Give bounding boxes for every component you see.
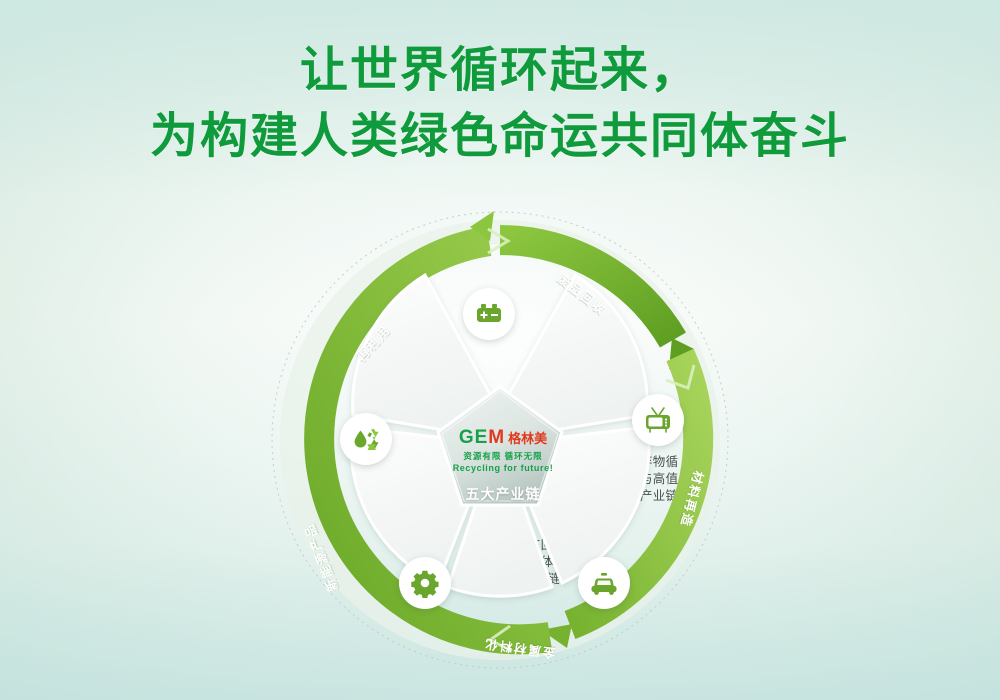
gem-letter-red: M <box>488 427 505 448</box>
water-recycle-icon[interactable] <box>340 413 392 465</box>
gear-icon[interactable] <box>399 557 451 609</box>
gem-slogan-cn: 资源有限 循环无限 <box>448 450 558 462</box>
battery-icon[interactable] <box>463 288 515 340</box>
title-line-1: 让世界循环起来， <box>0 38 1000 104</box>
title-line-2: 为构建人类绿色命运共同体奋斗 <box>0 104 1000 170</box>
car-icon[interactable] <box>578 557 630 609</box>
tv-icon[interactable] <box>632 394 684 446</box>
gem-slogan-en: Recycling for future! <box>448 462 558 474</box>
gem-letters-green: GE <box>459 427 488 448</box>
center-subtitle: 五大产业链 <box>448 484 558 504</box>
gem-brand-cn: 格林美 <box>508 431 547 446</box>
gem-wordmark: GEM格林美 <box>448 428 558 449</box>
gem-logo: GEM格林美 资源有限 循环无限 Recycling for future! <box>448 428 558 474</box>
page-title: 让世界循环起来， 为构建人类绿色命运共同体奋斗 <box>0 38 1000 170</box>
